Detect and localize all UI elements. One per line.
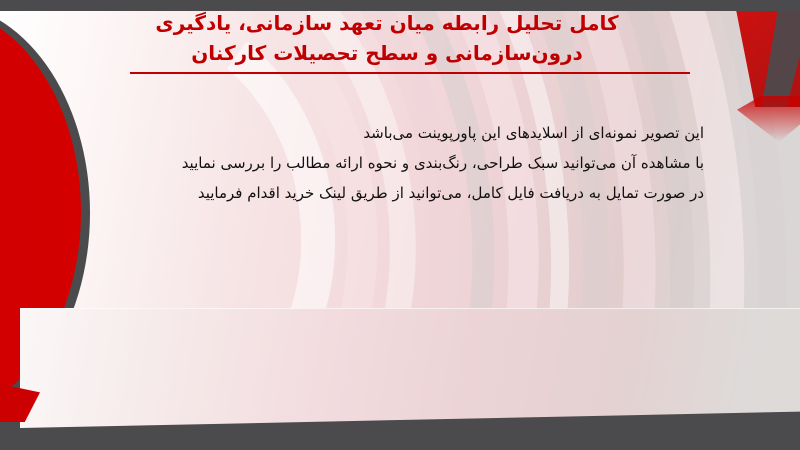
slide-body-text: این تصویر نمونه‌ای از اسلایدهای این پاور… (96, 118, 704, 208)
body-line-1: این تصویر نمونه‌ای از اسلایدهای این پاور… (96, 118, 704, 148)
title-line-1: کامل تحلیل رابطه میان تعهد سازمانی، یادگ… (0, 8, 774, 38)
body-line-2: با مشاهده آن می‌توانید سبک طراحی، رنگ‌بن… (96, 148, 704, 178)
title-line-2: درون‌سازمانی و سطح تحصیلات کارکنان (0, 38, 774, 68)
slide-title: کامل تحلیل رابطه میان تعهد سازمانی، یادگ… (0, 8, 774, 68)
title-underline-rule (130, 72, 690, 74)
body-line-3: در صورت تمایل به دریافت فایل کامل، می‌تو… (96, 178, 704, 208)
presentation-slide: کامل تحلیل رابطه میان تعهد سازمانی، یادگ… (0, 0, 800, 450)
slide-content: کامل تحلیل رابطه میان تعهد سازمانی، یادگ… (0, 0, 800, 450)
